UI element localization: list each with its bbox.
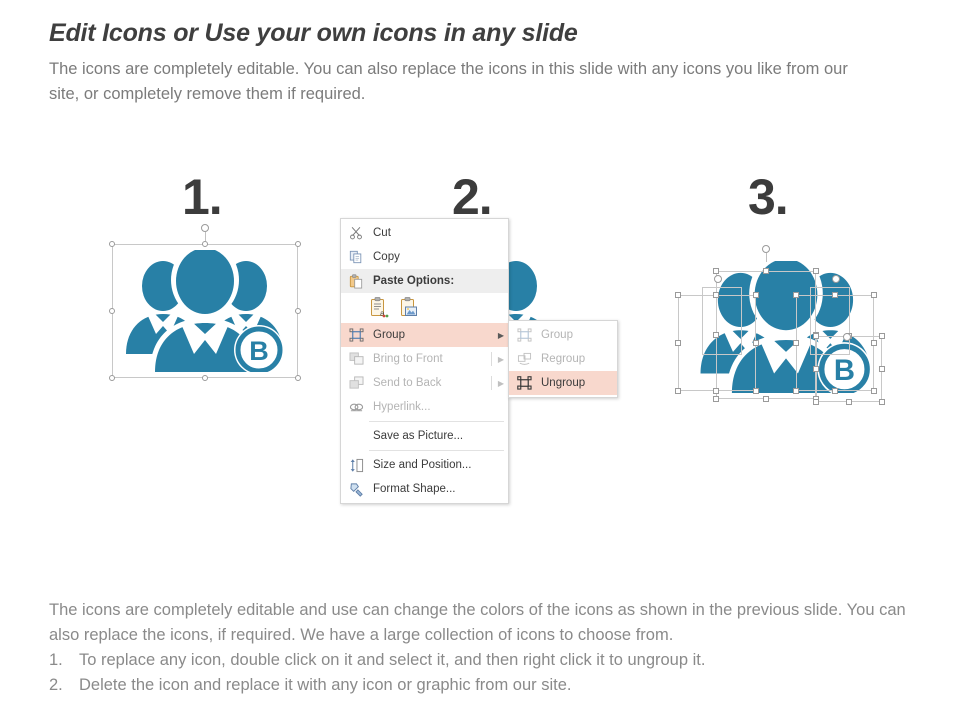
badge-handle[interactable] <box>846 399 852 405</box>
paste-picture-icon[interactable] <box>399 296 419 321</box>
badge-handle[interactable] <box>813 366 819 372</box>
svg-text:B: B <box>249 336 269 366</box>
sub-handle[interactable] <box>793 340 799 346</box>
format-shape-icon <box>343 479 369 499</box>
sub-handle[interactable] <box>675 292 681 298</box>
submenu-item-ungroup[interactable]: Ungroup <box>509 371 617 395</box>
menu-item-bring-to-front: Bring to Front ▶ <box>341 347 508 371</box>
regroup-icon <box>511 349 537 369</box>
badge-handle[interactable] <box>879 333 885 339</box>
step-number-2: 2. <box>452 172 492 222</box>
sub-handle[interactable] <box>713 332 719 338</box>
list-item: 2. Delete the icon and replace it with a… <box>49 673 929 698</box>
bring-to-front-icon <box>343 349 369 369</box>
copy-icon <box>343 247 369 267</box>
ungroup-icon <box>511 373 537 393</box>
submenu-item-label: Regroup <box>537 353 617 365</box>
sub-handle[interactable] <box>675 340 681 346</box>
page-subtitle: The icons are completely editable. You c… <box>49 57 879 107</box>
paste-options-row[interactable]: a <box>341 293 508 323</box>
menu-item-label: Size and Position... <box>369 459 508 471</box>
group-icon <box>511 325 537 345</box>
sub-handle[interactable] <box>713 396 719 402</box>
slide-canvas: Edit Icons or Use your own icons in any … <box>0 0 960 720</box>
menu-item-label: Bring to Front <box>369 353 494 365</box>
sub-handle[interactable] <box>871 340 877 346</box>
sub-selection-frame-tie-right[interactable] <box>810 287 850 355</box>
resize-handle-sw[interactable] <box>109 375 115 381</box>
step-number-3: 3. <box>748 172 788 222</box>
sub-handle[interactable] <box>675 388 681 394</box>
badge-handle[interactable] <box>879 399 885 405</box>
badge-handle[interactable] <box>813 399 819 405</box>
badge-handle[interactable] <box>813 333 819 339</box>
menu-item-label: Copy <box>369 251 508 263</box>
list-text: To replace any icon, double click on it … <box>79 648 705 673</box>
menu-item-label: Group <box>369 329 494 341</box>
menu-item-cut[interactable]: Cut <box>341 221 508 245</box>
send-to-back-icon <box>343 373 369 393</box>
sub-handle[interactable] <box>793 292 799 298</box>
sub-handle[interactable] <box>871 292 877 298</box>
submenu-arrow-icon: ▶ <box>494 331 508 340</box>
menu-item-label: Save as Picture... <box>369 430 508 442</box>
menu-item-label: Cut <box>369 227 508 239</box>
menu-item-label: Paste Options: <box>369 275 508 287</box>
submenu-arrow-icon: ▶ <box>494 355 508 364</box>
menu-item-format-shape[interactable]: Format Shape... <box>341 477 508 501</box>
menu-divider <box>491 376 492 390</box>
menu-item-save-as-picture[interactable]: Save as Picture... <box>341 424 508 448</box>
menu-item-send-to-back: Send to Back ▶ <box>341 371 508 395</box>
hyperlink-icon <box>343 397 369 417</box>
rotate-stem <box>205 232 206 241</box>
sub-handle[interactable] <box>753 388 759 394</box>
size-position-icon <box>343 455 369 475</box>
submenu-item-regroup: Regroup <box>509 347 617 371</box>
resize-handle-e[interactable] <box>295 308 301 314</box>
menu-item-hyperlink: Hyperlink... <box>341 395 508 419</box>
sub-handle[interactable] <box>753 340 759 346</box>
menu-item-paste-options: Paste Options: <box>341 269 508 293</box>
footer-paragraph: The icons are completely editable and us… <box>49 598 929 648</box>
sub-handle[interactable] <box>753 292 759 298</box>
sub-handle[interactable] <box>713 388 719 394</box>
group-submenu[interactable]: Group Regroup Un <box>508 320 618 398</box>
sub-handle[interactable] <box>713 268 719 274</box>
page-title: Edit Icons or Use your own icons in any … <box>49 19 578 48</box>
resize-handle-n[interactable] <box>202 241 208 247</box>
rotate-handle-center[interactable] <box>762 245 770 253</box>
rotate-handle[interactable] <box>201 224 209 232</box>
rotate-handle-badge[interactable] <box>843 333 851 341</box>
paste-icon <box>343 271 369 291</box>
list-marker: 1. <box>49 648 79 673</box>
menu-separator <box>369 450 504 451</box>
list-marker: 2. <box>49 673 79 698</box>
menu-item-copy[interactable]: Copy <box>341 245 508 269</box>
list-text: Delete the icon and replace it with any … <box>79 673 572 698</box>
sub-handle[interactable] <box>713 292 719 298</box>
step-3-illustration: B <box>688 243 888 421</box>
rotate-handle-right[interactable] <box>832 275 840 283</box>
sub-handle[interactable] <box>832 388 838 394</box>
menu-item-label: Hyperlink... <box>369 401 508 413</box>
submenu-item-label: Ungroup <box>537 377 617 389</box>
menu-item-size-and-position[interactable]: Size and Position... <box>341 453 508 477</box>
list-item: 1. To replace any icon, double click on … <box>49 648 929 673</box>
menu-item-label: Format Shape... <box>369 483 508 495</box>
rotate-stem <box>766 253 767 262</box>
footer-text-block: The icons are completely editable and us… <box>49 598 929 698</box>
resize-handle-nw[interactable] <box>109 241 115 247</box>
no-icon <box>343 426 369 446</box>
submenu-item-group: Group <box>509 323 617 347</box>
step-number-1: 1. <box>182 172 222 222</box>
submenu-arrow-icon: ▶ <box>494 379 508 388</box>
group-icon <box>343 325 369 345</box>
sub-handle[interactable] <box>871 388 877 394</box>
sub-selection-frame-tie-left[interactable] <box>702 287 742 355</box>
team-people-icon[interactable]: B <box>122 250 288 372</box>
submenu-item-label: Group <box>537 329 617 341</box>
menu-item-label: Send to Back <box>369 377 494 389</box>
sub-handle[interactable] <box>832 292 838 298</box>
rotate-handle-left[interactable] <box>714 275 722 283</box>
menu-divider <box>491 352 492 366</box>
menu-separator <box>369 421 504 422</box>
menu-item-group[interactable]: Group ▶ <box>341 323 508 347</box>
resize-handle-s[interactable] <box>202 375 208 381</box>
resize-handle-ne[interactable] <box>295 241 301 247</box>
sub-handle[interactable] <box>813 268 819 274</box>
footer-list: 1. To replace any icon, double click on … <box>49 648 929 698</box>
sub-handle[interactable] <box>763 268 769 274</box>
sub-handle[interactable] <box>763 396 769 402</box>
context-menu[interactable]: Cut Copy <box>340 218 509 504</box>
step-1-illustration: B <box>112 244 298 378</box>
resize-handle-w[interactable] <box>109 308 115 314</box>
sub-handle[interactable] <box>793 388 799 394</box>
paste-keep-source-formatting-icon[interactable]: a <box>369 296 389 321</box>
resize-handle-se[interactable] <box>295 375 301 381</box>
scissors-icon <box>343 223 369 243</box>
badge-handle[interactable] <box>879 366 885 372</box>
